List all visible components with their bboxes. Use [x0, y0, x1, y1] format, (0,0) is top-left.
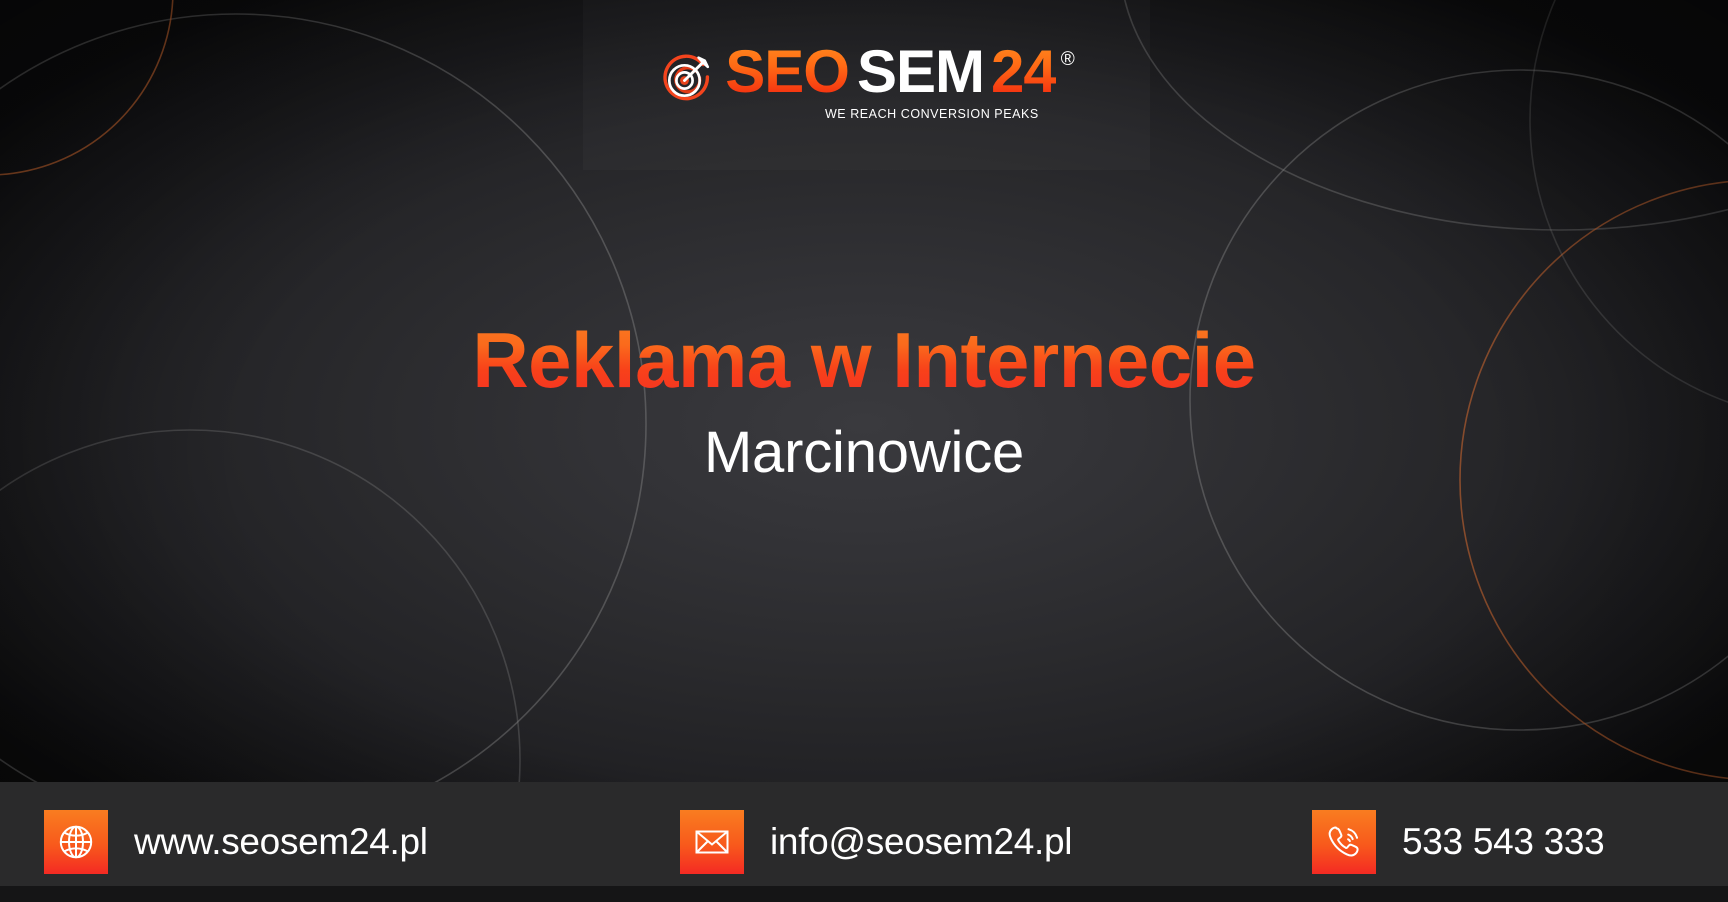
target-arrow-icon: [658, 52, 716, 110]
email-text: info@seosem24.pl: [770, 821, 1072, 863]
logo-sem-text: SEM: [857, 42, 984, 102]
contact-item-email[interactable]: info@seosem24.pl: [680, 810, 1072, 874]
contact-bar: www.seosem24.pl info@seosem24.pl: [0, 782, 1728, 902]
logo: SEO SEM 24 ® WE REACH CONVERSION PEAKS: [658, 42, 1075, 121]
website-text: www.seosem24.pl: [134, 821, 428, 863]
logo-tagline: WE REACH CONVERSION PEAKS: [725, 107, 1075, 121]
logo-seo-text: SEO: [725, 42, 849, 102]
registered-mark-icon: ®: [1061, 50, 1075, 69]
logo-wordmark: SEO SEM 24 ® WE REACH CONVERSION PEAKS: [725, 42, 1075, 121]
contact-item-website[interactable]: www.seosem24.pl: [44, 810, 428, 874]
page-title: Reklama w Internecie: [0, 318, 1728, 402]
logo-badge: SEO SEM 24 ® WE REACH CONVERSION PEAKS: [583, 0, 1150, 170]
slide-canvas: SEO SEM 24 ® WE REACH CONVERSION PEAKS R…: [0, 0, 1728, 902]
contact-item-phone[interactable]: 533 543 333: [1312, 810, 1604, 874]
hero-text-block: Reklama w Internecie Marcinowice: [0, 318, 1728, 485]
phone-icon: [1312, 810, 1376, 874]
logo-24-text: 24: [991, 42, 1056, 102]
phone-text: 533 543 333: [1402, 821, 1604, 863]
globe-icon: [44, 810, 108, 874]
envelope-icon: [680, 810, 744, 874]
page-subtitle: Marcinowice: [0, 421, 1728, 485]
